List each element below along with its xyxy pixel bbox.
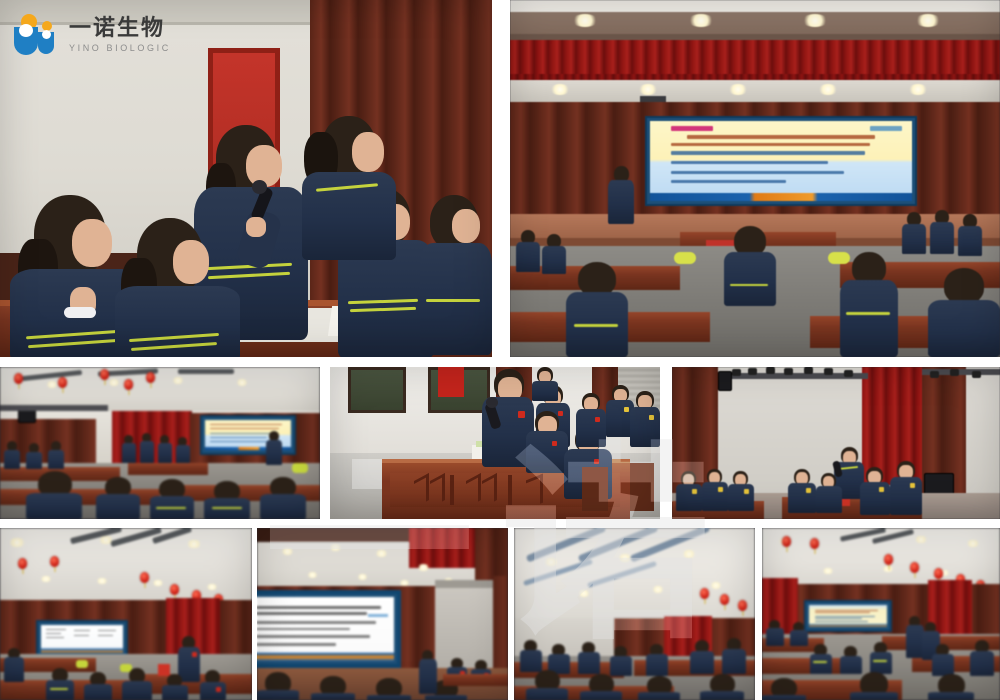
photo-4[interactable] (330, 367, 660, 519)
photo-2[interactable] (510, 0, 1000, 357)
red-lantern-icon (720, 594, 729, 605)
projection-screen (645, 116, 917, 206)
brand-logo[interactable]: 一诺生物 YINO BIOLOGIC (14, 14, 171, 56)
scene-auditorium-stage-presentation (510, 0, 1000, 357)
red-lantern-icon (124, 379, 133, 390)
photo-collage: 一诺 一诺 一诺生物 YINO BIOLOGIC (0, 0, 1000, 700)
projection-screen (257, 590, 401, 668)
photo-8[interactable] (514, 528, 755, 700)
red-lantern-icon (50, 556, 59, 567)
led-screen (804, 600, 892, 632)
person-standing-right (419, 650, 437, 694)
red-lantern-icon (910, 562, 919, 573)
scene-hall-ceiling-led-screen (0, 528, 252, 700)
photo-3[interactable] (0, 367, 320, 519)
person-foreground-left (566, 262, 628, 357)
red-lantern-icon (782, 536, 791, 547)
screen-title-block (671, 126, 713, 132)
scene-audience-question-red-curtain (672, 367, 1000, 519)
scene-front-table-speaker (330, 367, 660, 519)
scene-projection-side-view (257, 528, 508, 700)
two-people-logo-icon (14, 14, 60, 56)
person-seated-front-middle (115, 218, 240, 357)
photo-7[interactable] (257, 528, 508, 700)
person-foreground-center (724, 226, 776, 306)
person-presenter-on-stage (608, 166, 634, 224)
person-standing-back-right (296, 110, 396, 260)
red-lantern-icon (140, 572, 149, 583)
scene-hall-wide-back-view (0, 367, 320, 519)
stage-valance-curtain (510, 40, 1000, 78)
red-lantern-icon (100, 369, 109, 380)
red-lantern-icon (810, 538, 819, 549)
red-lantern-icon (58, 377, 67, 388)
red-lantern-icon (146, 372, 155, 383)
person-seated-far-right (420, 195, 492, 355)
photo-9[interactable] (762, 528, 1000, 700)
photo-5[interactable] (672, 367, 1000, 519)
scene-hall-ceiling-lights (514, 528, 755, 700)
red-lantern-icon (738, 600, 747, 611)
red-lantern-icon (934, 568, 943, 579)
scene-auditorium-full-wide (762, 528, 1000, 700)
person-foreground-back (26, 471, 82, 519)
brand-name-cn: 一诺生物 (69, 17, 171, 39)
led-screen (36, 620, 128, 658)
red-lantern-icon (700, 588, 709, 599)
person-foreground-right (840, 252, 898, 357)
red-lantern-icon (14, 373, 23, 384)
red-lantern-icon (18, 558, 27, 569)
brand-name-en: YINO BIOLOGIC (69, 44, 171, 53)
red-lantern-icon (884, 554, 893, 565)
photo-6[interactable] (0, 528, 252, 700)
red-lantern-icon (170, 584, 179, 595)
